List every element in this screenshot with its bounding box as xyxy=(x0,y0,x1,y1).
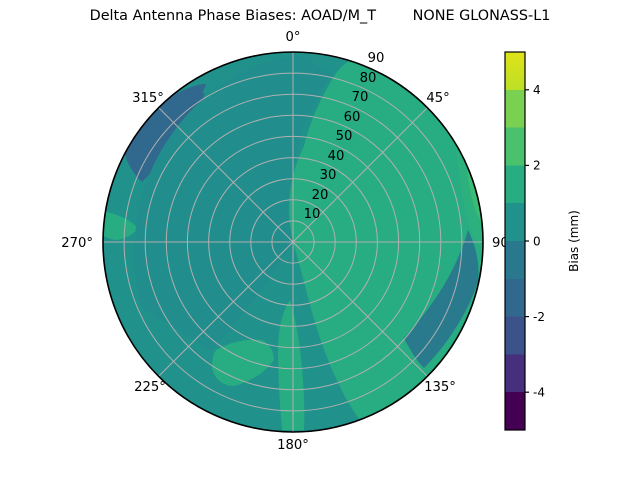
radial-label-10: 10 xyxy=(304,207,321,222)
colorbar-group: -4 -2 0 2 4 Bias (mm) xyxy=(505,52,581,430)
page-title: Delta Antenna Phase Biases: AOAD/M_T NON… xyxy=(0,8,640,24)
radial-label-20: 20 xyxy=(312,188,329,203)
radial-label-80: 80 xyxy=(360,71,377,86)
azimuth-label-0: 0° xyxy=(286,30,301,45)
radial-label-60: 60 xyxy=(344,110,361,125)
azimuth-label-45: 45° xyxy=(426,91,449,106)
colorbar-tick-label-2: 2 xyxy=(533,159,541,173)
azimuth-label-315: 315° xyxy=(132,91,164,106)
azimuth-label-135: 135° xyxy=(424,380,456,395)
colorbar-tick-label--4: -4 xyxy=(533,386,545,400)
radial-label-90: 90 xyxy=(368,51,385,66)
polar-contour-plot: 0° 45° 90 135° 180° 225° 270° 315° 10 20… xyxy=(0,0,640,480)
radial-label-50: 50 xyxy=(336,129,353,144)
colorbar-tick-label-4: 4 xyxy=(533,83,541,97)
radial-label-70: 70 xyxy=(352,90,369,105)
azimuth-label-270: 270° xyxy=(61,236,93,251)
azimuth-label-180: 180° xyxy=(277,438,309,453)
colorbar-tick-label--2: -2 xyxy=(533,310,545,324)
azimuth-label-225: 225° xyxy=(134,380,166,395)
radial-label-30: 30 xyxy=(320,168,337,183)
figure-canvas: Delta Antenna Phase Biases: AOAD/M_T NON… xyxy=(0,0,640,480)
radial-label-40: 40 xyxy=(328,149,345,164)
polar-grid-group xyxy=(103,52,483,432)
colorbar-tick-label-0: 0 xyxy=(533,234,541,248)
colorbar-axis-label: Bias (mm) xyxy=(567,210,581,272)
colorbar-gradient xyxy=(505,52,525,430)
